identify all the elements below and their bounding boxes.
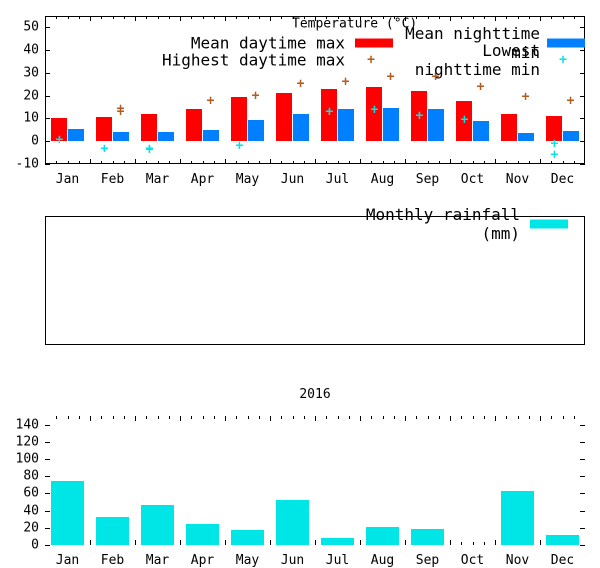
bar-feb — [113, 132, 129, 141]
x-minor-tick — [304, 416, 305, 419]
y-tick-label: 80 — [23, 470, 39, 483]
x-minor-tick — [158, 161, 159, 164]
x-minor-tick — [428, 161, 429, 164]
x-minor-tick — [484, 542, 485, 545]
bar-may — [231, 97, 247, 141]
x-tick-label-may: May — [236, 173, 259, 186]
y-tick — [45, 545, 50, 546]
bar-dec — [546, 535, 579, 545]
x-tick — [360, 159, 361, 164]
x-tick — [495, 159, 496, 164]
x-minor-tick — [326, 161, 327, 164]
x-tick — [180, 159, 181, 164]
x-tick — [540, 16, 541, 21]
y-tick — [45, 118, 50, 119]
x-minor-tick — [281, 416, 282, 419]
x-tick — [225, 16, 226, 21]
y-tick — [580, 164, 585, 165]
y-tick-label: 20 — [23, 521, 39, 534]
x-tick — [90, 540, 91, 545]
x-minor-tick — [428, 416, 429, 419]
y-tick — [45, 73, 50, 74]
x-minor-tick — [68, 16, 69, 19]
marker-lowest-nighttime-min: + — [145, 144, 153, 157]
x-minor-tick — [146, 161, 147, 164]
marker-lowest-nighttime-min: + — [370, 104, 378, 117]
x-tick — [360, 416, 361, 421]
x-tick — [450, 540, 451, 545]
x-tick — [270, 159, 271, 164]
x-minor-tick — [56, 161, 57, 164]
x-minor-tick — [158, 16, 159, 19]
x-minor-tick — [349, 161, 350, 164]
x-minor-tick — [518, 416, 519, 419]
bar-apr — [186, 524, 219, 545]
x-minor-tick — [169, 161, 170, 164]
x-minor-tick — [293, 161, 294, 164]
x-minor-tick — [68, 416, 69, 419]
x-minor-tick — [113, 416, 114, 419]
rainfall-chart: 020406080100120140 JanFebMarAprMayJunJul… — [0, 200, 600, 400]
x-tick — [405, 159, 406, 164]
x-tick — [495, 540, 496, 545]
x-tick — [270, 540, 271, 545]
x-tick-label-may: May — [236, 554, 259, 567]
x-tick-label-jul: Jul — [326, 554, 349, 567]
bar-apr — [203, 130, 219, 141]
x-tick-label-jun: Jun — [281, 173, 304, 186]
temperature-chart: -1001020304050 JanFebMarAprMayJunJulAugS… — [0, 0, 600, 195]
x-minor-tick — [473, 542, 474, 545]
x-minor-tick — [281, 161, 282, 164]
bar-aug — [366, 527, 399, 545]
x-tick — [495, 16, 496, 21]
x-tick — [135, 16, 136, 21]
x-tick-label-dec: Dec — [551, 554, 574, 567]
x-minor-tick — [293, 416, 294, 419]
y-tick — [45, 528, 50, 529]
x-tick — [180, 540, 181, 545]
x-tick — [90, 416, 91, 421]
y-tick-label: 0 — [31, 539, 39, 552]
y-tick — [580, 476, 585, 477]
x-tick-label-jun: Jun — [281, 554, 304, 567]
x-minor-tick — [383, 416, 384, 419]
y-tick-label: 60 — [23, 487, 39, 500]
x-minor-tick — [439, 16, 440, 19]
x-tick-label-apr: Apr — [191, 554, 214, 567]
marker-highest-daytime-max: + — [567, 95, 575, 108]
x-tick-label-sep: Sep — [416, 173, 439, 186]
x-minor-tick — [259, 161, 260, 164]
x-tick — [225, 416, 226, 421]
y-tick — [580, 50, 585, 51]
x-tick — [540, 159, 541, 164]
x-tick-label-aug: Aug — [371, 554, 394, 567]
legend-marker-highest-daytime-max: + — [367, 54, 375, 67]
y-tick — [580, 511, 585, 512]
y-tick-label: 40 — [23, 44, 39, 57]
legend-swatch-mean-nighttime-min — [547, 39, 585, 48]
x-tick — [360, 540, 361, 545]
x-tick — [450, 416, 451, 421]
marker-highest-daytime-max: + — [117, 103, 125, 116]
y-tick — [45, 442, 50, 443]
y-tick — [580, 141, 585, 142]
x-minor-tick — [473, 161, 474, 164]
x-minor-tick — [236, 16, 237, 19]
x-minor-tick — [79, 16, 80, 19]
x-minor-tick — [113, 16, 114, 19]
x-tick — [90, 16, 91, 21]
x-minor-tick — [191, 416, 192, 419]
x-minor-tick — [259, 16, 260, 19]
marker-lowest-nighttime-min: + — [325, 105, 333, 118]
bar-jun — [276, 500, 309, 545]
bar-jul — [321, 538, 354, 545]
x-minor-tick — [236, 416, 237, 419]
x-minor-tick — [506, 16, 507, 19]
x-minor-tick — [529, 161, 530, 164]
x-minor-tick — [68, 161, 69, 164]
bar-mar — [141, 505, 174, 545]
legend-swatch-mean-daytime-max — [355, 39, 393, 48]
bar-aug — [383, 108, 399, 141]
marker-lowest-nighttime-min: + — [100, 143, 108, 156]
bar-feb — [96, 517, 129, 545]
x-minor-tick — [203, 16, 204, 19]
x-minor-tick — [191, 16, 192, 19]
climate-chart-page: -1001020304050 JanFebMarAprMayJunJulAugS… — [0, 0, 600, 400]
bar-may — [248, 120, 264, 142]
x-minor-tick — [574, 416, 575, 419]
bar-apr — [186, 109, 202, 141]
y-tick — [580, 442, 585, 443]
x-minor-tick — [371, 161, 372, 164]
x-minor-tick — [428, 16, 429, 19]
x-tick-label-oct: Oct — [461, 173, 484, 186]
y-tick-label: 30 — [23, 66, 39, 79]
x-tick — [540, 540, 541, 545]
x-minor-tick — [214, 16, 215, 19]
y-tick — [45, 164, 50, 165]
y-tick — [580, 493, 585, 494]
x-minor-tick — [473, 16, 474, 19]
x-minor-tick — [304, 161, 305, 164]
y-tick — [45, 96, 50, 97]
marker-highest-daytime-max: + — [342, 76, 350, 89]
x-minor-tick — [529, 16, 530, 19]
bar-nov — [501, 491, 534, 545]
x-minor-tick — [574, 161, 575, 164]
x-minor-tick — [416, 161, 417, 164]
x-tick — [405, 416, 406, 421]
x-tick-label-sep: Sep — [416, 554, 439, 567]
x-minor-tick — [124, 416, 125, 419]
y-tick-label: 10 — [23, 112, 39, 125]
x-minor-tick — [248, 16, 249, 19]
x-tick — [180, 416, 181, 421]
x-tick — [495, 416, 496, 421]
x-tick — [225, 159, 226, 164]
marker-lowest-nighttime-min: + — [415, 110, 423, 123]
y-tick — [580, 118, 585, 119]
x-tick — [225, 540, 226, 545]
x-minor-tick — [124, 161, 125, 164]
x-minor-tick — [101, 161, 102, 164]
x-minor-tick — [326, 416, 327, 419]
x-tick-label-oct: Oct — [461, 554, 484, 567]
x-tick-label-apr: Apr — [191, 173, 214, 186]
bar-jan — [68, 129, 84, 142]
y-tick-label: 40 — [23, 504, 39, 517]
x-minor-tick — [79, 161, 80, 164]
y-tick — [580, 425, 585, 426]
x-tick — [450, 159, 451, 164]
legend-label-lowest-nighttime-min: Lowest nighttime min — [400, 41, 540, 79]
y-tick — [45, 511, 50, 512]
x-minor-tick — [203, 161, 204, 164]
marker-highest-daytime-max: + — [387, 71, 395, 84]
x-minor-tick — [158, 416, 159, 419]
bar-sep — [411, 529, 444, 545]
x-tick-label-mar: Mar — [146, 173, 169, 186]
x-tick — [180, 16, 181, 21]
marker-highest-daytime-max: + — [207, 95, 215, 108]
x-minor-tick — [203, 416, 204, 419]
x-minor-tick — [518, 16, 519, 19]
x-axis-title-year: 2016 — [299, 388, 330, 401]
x-tick-label-nov: Nov — [506, 173, 529, 186]
y-tick — [45, 459, 50, 460]
x-minor-tick — [563, 416, 564, 419]
x-tick — [450, 16, 451, 21]
bar-mar — [141, 114, 157, 141]
x-minor-tick — [439, 416, 440, 419]
x-minor-tick — [124, 16, 125, 19]
x-minor-tick — [574, 16, 575, 19]
x-minor-tick — [191, 161, 192, 164]
bar-jun — [293, 114, 309, 141]
y-tick-label: -10 — [16, 158, 39, 171]
x-minor-tick — [473, 416, 474, 419]
legend-label-highest-daytime-max: Highest daytime max — [145, 51, 345, 70]
x-minor-tick — [484, 161, 485, 164]
x-tick-label-nov: Nov — [506, 554, 529, 567]
bar-oct — [473, 121, 489, 141]
x-minor-tick — [484, 16, 485, 19]
x-tick-label-jan: Jan — [56, 554, 79, 567]
x-minor-tick — [394, 416, 395, 419]
x-tick-label-aug: Aug — [371, 173, 394, 186]
x-minor-tick — [461, 416, 462, 419]
x-tick-label-feb: Feb — [101, 554, 124, 567]
marker-highest-daytime-max: + — [252, 89, 260, 102]
marker-lowest-nighttime-min: + — [235, 139, 243, 152]
legend-marker-lowest-nighttime-min: + — [559, 54, 567, 67]
x-tick — [315, 159, 316, 164]
x-minor-tick — [56, 16, 57, 19]
y-tick-label: 120 — [16, 435, 39, 448]
x-minor-tick — [79, 416, 80, 419]
x-minor-tick — [338, 161, 339, 164]
x-minor-tick — [461, 542, 462, 545]
x-tick-label-feb: Feb — [101, 173, 124, 186]
bar-jan — [51, 481, 84, 546]
marker-highest-daytime-max: + — [297, 78, 305, 91]
x-minor-tick — [214, 416, 215, 419]
x-minor-tick — [563, 16, 564, 19]
x-tick — [315, 540, 316, 545]
x-tick — [270, 16, 271, 21]
x-minor-tick — [506, 161, 507, 164]
y-tick — [45, 27, 50, 28]
x-minor-tick — [551, 416, 552, 419]
y-tick-label: 0 — [31, 135, 39, 148]
x-minor-tick — [169, 16, 170, 19]
x-minor-tick — [101, 16, 102, 19]
x-minor-tick — [56, 416, 57, 419]
marker-highest-daytime-max: + — [477, 80, 485, 93]
x-tick-label-dec: Dec — [551, 173, 574, 186]
x-tick — [135, 159, 136, 164]
y-tick — [580, 459, 585, 460]
x-tick-label-mar: Mar — [146, 554, 169, 567]
bar-dec — [563, 131, 579, 141]
y-tick — [580, 545, 585, 546]
bar-nov — [501, 114, 517, 141]
bar-may — [231, 530, 264, 545]
temperature-chart-title: Temperature (°C) — [292, 18, 417, 31]
legend-label-monthly-rainfall: Monthly rainfall (mm) — [330, 205, 520, 243]
x-minor-tick — [113, 161, 114, 164]
y-tick — [580, 528, 585, 529]
x-minor-tick — [281, 16, 282, 19]
x-tick — [135, 540, 136, 545]
y-tick — [580, 96, 585, 97]
x-minor-tick — [259, 416, 260, 419]
x-tick-label-jul: Jul — [326, 173, 349, 186]
y-tick — [45, 50, 50, 51]
x-minor-tick — [518, 161, 519, 164]
y-tick — [580, 27, 585, 28]
y-tick — [45, 141, 50, 142]
x-minor-tick — [214, 161, 215, 164]
bar-mar — [158, 132, 174, 141]
x-minor-tick — [439, 161, 440, 164]
x-minor-tick — [248, 416, 249, 419]
x-minor-tick — [416, 416, 417, 419]
y-tick — [45, 476, 50, 477]
bar-jul — [338, 109, 354, 141]
x-minor-tick — [529, 416, 530, 419]
x-minor-tick — [338, 416, 339, 419]
bar-nov — [518, 133, 534, 141]
x-minor-tick — [371, 416, 372, 419]
x-minor-tick — [101, 416, 102, 419]
x-minor-tick — [146, 16, 147, 19]
x-minor-tick — [551, 16, 552, 19]
x-minor-tick — [169, 416, 170, 419]
x-minor-tick — [248, 161, 249, 164]
bar-jun — [276, 93, 292, 141]
x-minor-tick — [506, 416, 507, 419]
x-tick — [90, 159, 91, 164]
x-minor-tick — [461, 16, 462, 19]
y-tick-label: 100 — [16, 453, 39, 466]
x-tick — [540, 416, 541, 421]
bar-sep — [428, 109, 444, 141]
x-tick — [135, 416, 136, 421]
y-tick — [45, 425, 50, 426]
x-minor-tick — [461, 161, 462, 164]
x-minor-tick — [146, 416, 147, 419]
x-tick-label-jan: Jan — [56, 173, 79, 186]
y-tick — [580, 73, 585, 74]
y-tick-label: 50 — [23, 21, 39, 34]
x-minor-tick — [563, 161, 564, 164]
legend-swatch-monthly-rainfall — [530, 220, 568, 229]
x-minor-tick — [484, 416, 485, 419]
marker-lowest-nighttime-min: + — [55, 134, 63, 147]
x-tick — [405, 540, 406, 545]
marker-lowest-nighttime-min: + — [460, 113, 468, 126]
y-tick-label: 20 — [23, 89, 39, 102]
marker-lowest-nighttime-min: + — [550, 137, 558, 150]
x-minor-tick — [349, 416, 350, 419]
x-minor-tick — [394, 161, 395, 164]
y-tick — [45, 493, 50, 494]
bar-feb — [96, 117, 112, 141]
x-tick — [315, 416, 316, 421]
y-tick-label: 140 — [16, 418, 39, 431]
x-minor-tick — [236, 161, 237, 164]
marker-highest-daytime-max: + — [522, 90, 530, 103]
x-tick — [270, 416, 271, 421]
x-minor-tick — [383, 161, 384, 164]
